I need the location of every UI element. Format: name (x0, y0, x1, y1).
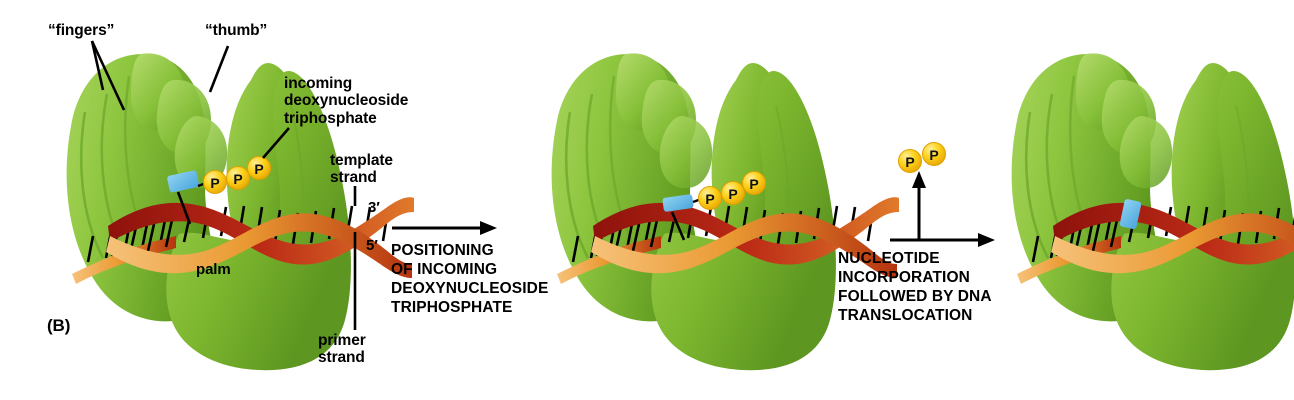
phosphate-label: P (210, 175, 219, 191)
figure-canvas: P P P (0, 0, 1294, 400)
panel-3-polymerase (1012, 53, 1294, 370)
transition-arrow-2 (890, 171, 995, 247)
phosphate-circle: P (248, 157, 271, 180)
panel-label: (B) (47, 316, 70, 335)
label-fingers: “fingers” (48, 22, 114, 39)
phosphate-circle: P (204, 171, 227, 194)
label-incoming-dntp: incoming deoxynucleoside triphosphate (284, 75, 408, 127)
phosphate-label: P (929, 147, 938, 163)
phosphate-label: P (233, 171, 242, 187)
phosphate-circle: P (899, 150, 922, 173)
phosphate-label: P (905, 154, 914, 170)
label-3-prime: 3′ (368, 200, 380, 217)
step-2-text: NUCLEOTIDE INCORPORATION FOLLOWED BY DNA… (838, 250, 992, 326)
phosphate-circle: P (699, 187, 722, 210)
label-palm: palm (196, 262, 231, 279)
step-1-text: POSITIONING OF INCOMING DEOXYNUCLEOSIDE … (391, 242, 548, 318)
label-5-prime: 5′ (366, 238, 378, 255)
phosphate-circle: P (743, 172, 766, 195)
transition-arrow-1 (392, 221, 497, 235)
phosphate-circle: P (227, 167, 250, 190)
phosphate-circle: P (923, 143, 946, 166)
diagram-svg: P P P (0, 0, 1294, 400)
phosphate-circle: P (722, 182, 745, 205)
label-template-strand: template strand (330, 152, 393, 187)
phosphate-label: P (749, 176, 758, 192)
phosphate-label: P (254, 161, 263, 177)
label-thumb: “thumb” (205, 22, 267, 39)
label-primer-strand: primer strand (318, 332, 366, 367)
phosphate-label: P (728, 186, 737, 202)
phosphate-label: P (705, 191, 714, 207)
released-pyrophosphate: P P (899, 143, 946, 173)
